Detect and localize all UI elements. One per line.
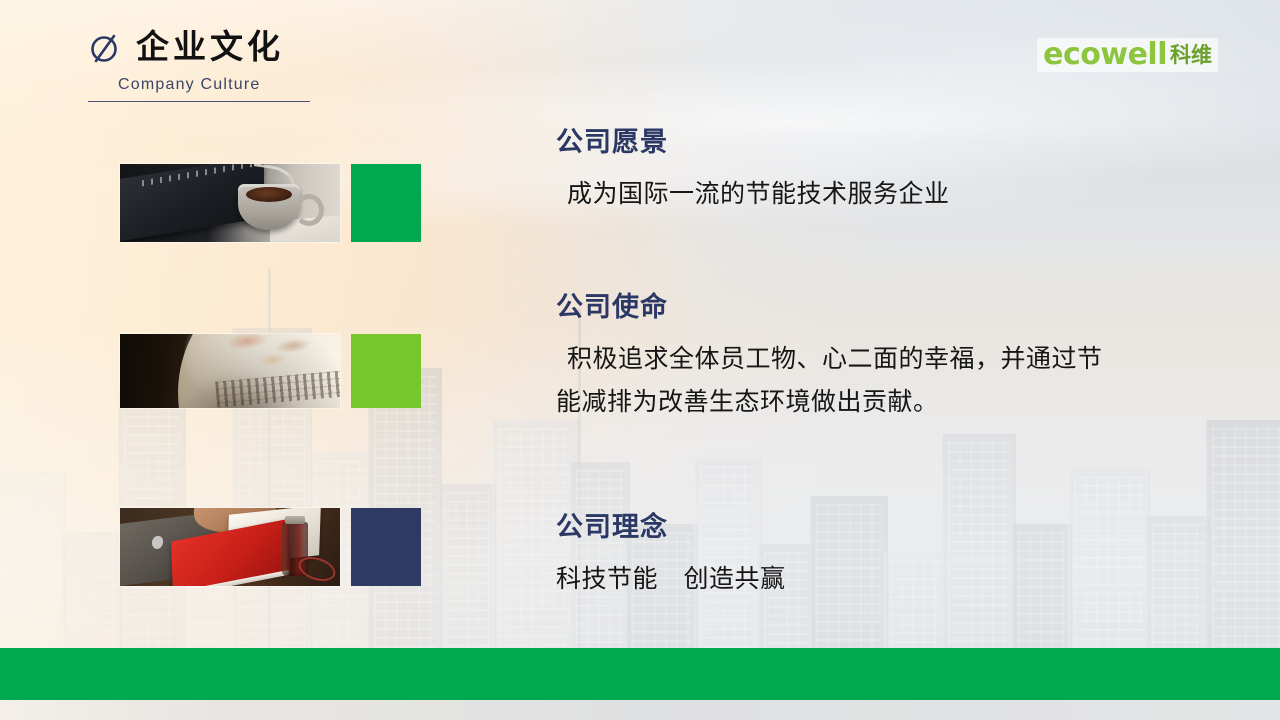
swatch-navy [351,508,421,586]
section-body-line: 科技节能 创造共赢 [556,557,786,600]
swatch-lime [351,334,421,408]
page-title-en: Company Culture [118,76,388,94]
footer-green-band [0,648,1280,700]
photo-notebook-coffee [120,164,340,242]
section-body: 积极追求全体员工物、心二面的幸福，并通过节 能减排为改善生态环境做出贡献。 [556,337,1103,423]
media-row [120,164,421,242]
section-body-line: 能减排为改善生态环境做出贡献。 [556,380,1103,423]
section-heading: 公司理念 [556,513,786,543]
brand-logo-text: ecowell [1043,40,1167,70]
section-heading: 公司使命 [556,293,1103,323]
swatch-green [351,164,421,242]
slide-canvas: 企业文化 Company Culture ecowell 科维 [0,0,1280,720]
page-title-cn: 企业文化 [136,30,284,63]
footer-strip [0,700,1280,720]
page-title: 企业文化 Company Culture [88,28,388,102]
photo-desk-study [120,508,340,586]
circle-slash-icon [88,30,122,64]
section-body: 成为国际一流的节能技术服务企业 [556,172,950,215]
section-mission: 公司使命 积极追求全体员工物、心二面的幸福，并通过节 能减排为改善生态环境做出贡… [556,293,1103,423]
section-vision: 公司愿景 成为国际一流的节能技术服务企业 [556,128,950,215]
section-body: 科技节能 创造共赢 [556,557,786,600]
media-row [120,508,421,586]
title-underline [88,101,310,102]
brand-logo-cn: 科维 [1170,45,1212,66]
section-body-line: 成为国际一流的节能技术服务企业 [556,172,950,215]
section-heading: 公司愿景 [556,128,950,158]
section-philosophy: 公司理念 科技节能 创造共赢 [556,513,786,600]
media-row [120,334,421,408]
photo-globe [120,334,340,408]
brand-logo: ecowell 科维 [1037,38,1218,72]
section-body-line: 积极追求全体员工物、心二面的幸福，并通过节 [556,337,1103,380]
